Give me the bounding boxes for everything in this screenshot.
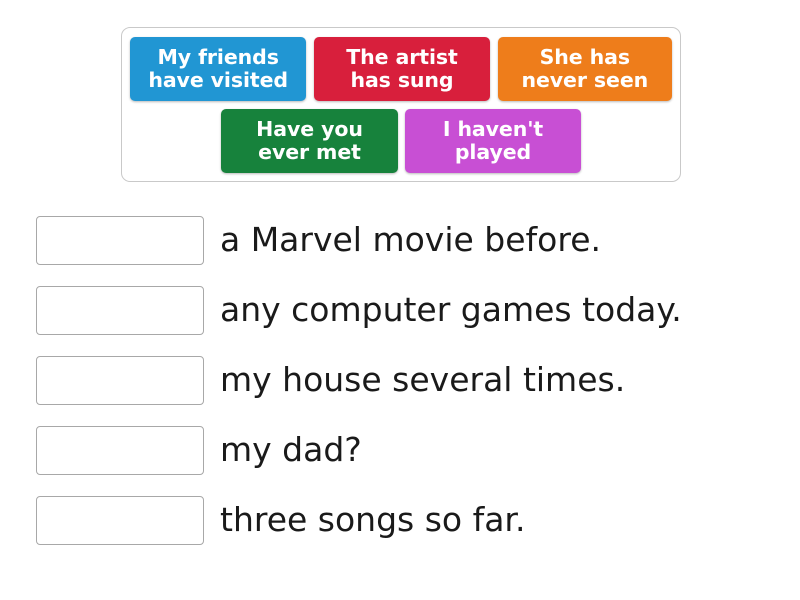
activity-canvas: My friends have visited The artist has s… xyxy=(0,0,800,600)
draggable-tile-she-has-never-seen[interactable]: She has never seen xyxy=(498,37,672,101)
dropzone-2[interactable] xyxy=(36,286,204,335)
dropzone-3[interactable] xyxy=(36,356,204,405)
answer-text-1: a Marvel movie before. xyxy=(220,223,601,258)
answer-row: my house several times. xyxy=(36,356,776,405)
answer-row: three songs so far. xyxy=(36,496,776,545)
word-bank-row-1: My friends have visited The artist has s… xyxy=(130,37,672,101)
word-bank: My friends have visited The artist has s… xyxy=(121,27,681,182)
answer-text-2: any computer games today. xyxy=(220,293,682,328)
draggable-tile-my-friends-have-visited[interactable]: My friends have visited xyxy=(130,37,306,101)
answer-row: any computer games today. xyxy=(36,286,776,335)
answer-text-4: my dad? xyxy=(220,433,362,468)
answer-list: a Marvel movie before. any computer game… xyxy=(36,216,776,566)
answer-text-5: three songs so far. xyxy=(220,503,525,538)
dropzone-1[interactable] xyxy=(36,216,204,265)
tile-label: Have you ever met xyxy=(256,118,363,164)
tile-label: My friends have visited xyxy=(148,46,288,92)
tile-label: The artist has sung xyxy=(346,46,457,92)
answer-row: my dad? xyxy=(36,426,776,475)
tile-label: I haven't played xyxy=(443,118,543,164)
draggable-tile-the-artist-has-sung[interactable]: The artist has sung xyxy=(314,37,489,101)
draggable-tile-have-you-ever-met[interactable]: Have you ever met xyxy=(221,109,398,173)
answer-text-3: my house several times. xyxy=(220,363,625,398)
dropzone-4[interactable] xyxy=(36,426,204,475)
tile-label: She has never seen xyxy=(522,46,649,92)
draggable-tile-i-havent-played[interactable]: I haven't played xyxy=(405,109,581,173)
answer-row: a Marvel movie before. xyxy=(36,216,776,265)
dropzone-5[interactable] xyxy=(36,496,204,545)
word-bank-row-2: Have you ever met I haven't played xyxy=(130,109,672,173)
